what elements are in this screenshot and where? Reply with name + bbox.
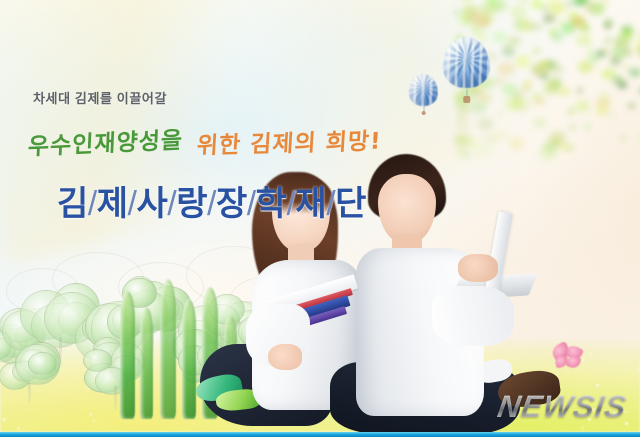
slogan-orange-part: 위한 김제의 희망! — [196, 122, 383, 161]
page-title: 김/제/사/랑/장/학/재/단 — [57, 176, 366, 225]
title-char-사: 사 — [136, 185, 167, 223]
title-separator: / — [207, 185, 216, 223]
title-char-재: 재 — [295, 185, 326, 223]
scholarship-banner: 차세대 김제를 이끌어갈 우수인재양성을 위한 김제의 희망! 김/제/사/랑/… — [0, 0, 640, 441]
newsis-watermark: NEWSIS — [495, 389, 629, 425]
title-char-장: 장 — [216, 185, 247, 223]
title-char-김: 김 — [57, 185, 88, 223]
title-separator: / — [167, 185, 176, 223]
banner-subheading: 차세대 김제를 이끌어갈 — [33, 88, 167, 107]
title-char-단: 단 — [335, 185, 366, 223]
title-char-랑: 랑 — [176, 185, 207, 223]
title-char-제: 제 — [97, 185, 128, 223]
slogan-green-part: 우수인재양성을 — [27, 121, 183, 162]
banner-handwritten-slogan: 우수인재양성을 위한 김제의 희망! — [28, 124, 382, 158]
title-separator: / — [326, 185, 335, 223]
banner-text-block: 차세대 김제를 이끌어갈 우수인재양성을 위한 김제의 희망! 김/제/사/랑/… — [0, 0, 640, 441]
title-char-학: 학 — [256, 185, 287, 223]
title-separator: / — [88, 185, 97, 223]
bottom-white-edge — [0, 437, 640, 441]
title-separator: / — [247, 185, 256, 223]
